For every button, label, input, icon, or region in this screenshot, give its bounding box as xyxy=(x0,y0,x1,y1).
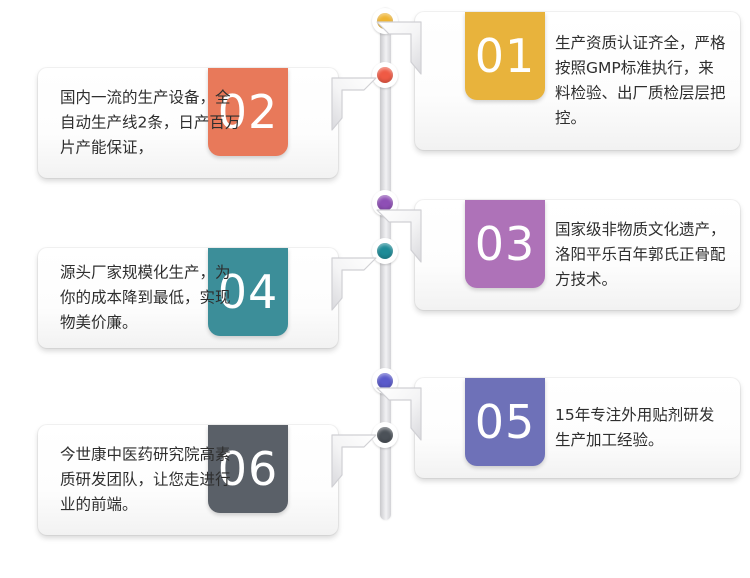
card-06-text: 今世康中医药研究院高素质研发团队，让您走进行业的前端。 xyxy=(60,443,242,518)
card-02-pointer-icon xyxy=(330,74,378,132)
card-02[interactable]: 02国内一流的生产设备，全自动生产线2条，日产百万片产能保证， xyxy=(38,68,338,178)
infographic-stage: 01生产资质认证齐全，严格按照GMP标准执行，来料检验、出厂质检层层把控。02国… xyxy=(0,0,750,578)
card-05-number-badge: 05 xyxy=(465,378,545,466)
card-06[interactable]: 06今世康中医药研究院高素质研发团队，让您走进行业的前端。 xyxy=(38,425,338,535)
card-05[interactable]: 0515年专注外用贴剂研发生产加工经验。 xyxy=(415,378,740,478)
card-01-text: 生产资质认证齐全，严格按照GMP标准执行，来料检验、出厂质检层层把控。 xyxy=(555,31,726,131)
card-01-number-badge: 01 xyxy=(465,12,545,100)
card-03-text: 国家级非物质文化遗产，洛阳平乐百年郭氏正骨配方技术。 xyxy=(555,218,726,293)
card-04-pointer-icon xyxy=(330,254,378,312)
card-03[interactable]: 03国家级非物质文化遗产，洛阳平乐百年郭氏正骨配方技术。 xyxy=(415,200,740,310)
card-04[interactable]: 04源头厂家规模化生产，为你的成本降到最低，实现物美价廉。 xyxy=(38,248,338,348)
card-04-text: 源头厂家规模化生产，为你的成本降到最低，实现物美价廉。 xyxy=(60,261,242,336)
card-06-pointer-icon xyxy=(330,431,378,489)
card-01-pointer-icon xyxy=(375,18,423,76)
card-05-text: 15年专注外用贴剂研发生产加工经验。 xyxy=(555,403,726,453)
card-01[interactable]: 01生产资质认证齐全，严格按照GMP标准执行，来料检验、出厂质检层层把控。 xyxy=(415,12,740,150)
card-03-number-badge: 03 xyxy=(465,200,545,288)
card-02-text: 国内一流的生产设备，全自动生产线2条，日产百万片产能保证， xyxy=(60,86,242,161)
card-03-pointer-icon xyxy=(375,206,423,264)
card-05-pointer-icon xyxy=(375,384,423,442)
